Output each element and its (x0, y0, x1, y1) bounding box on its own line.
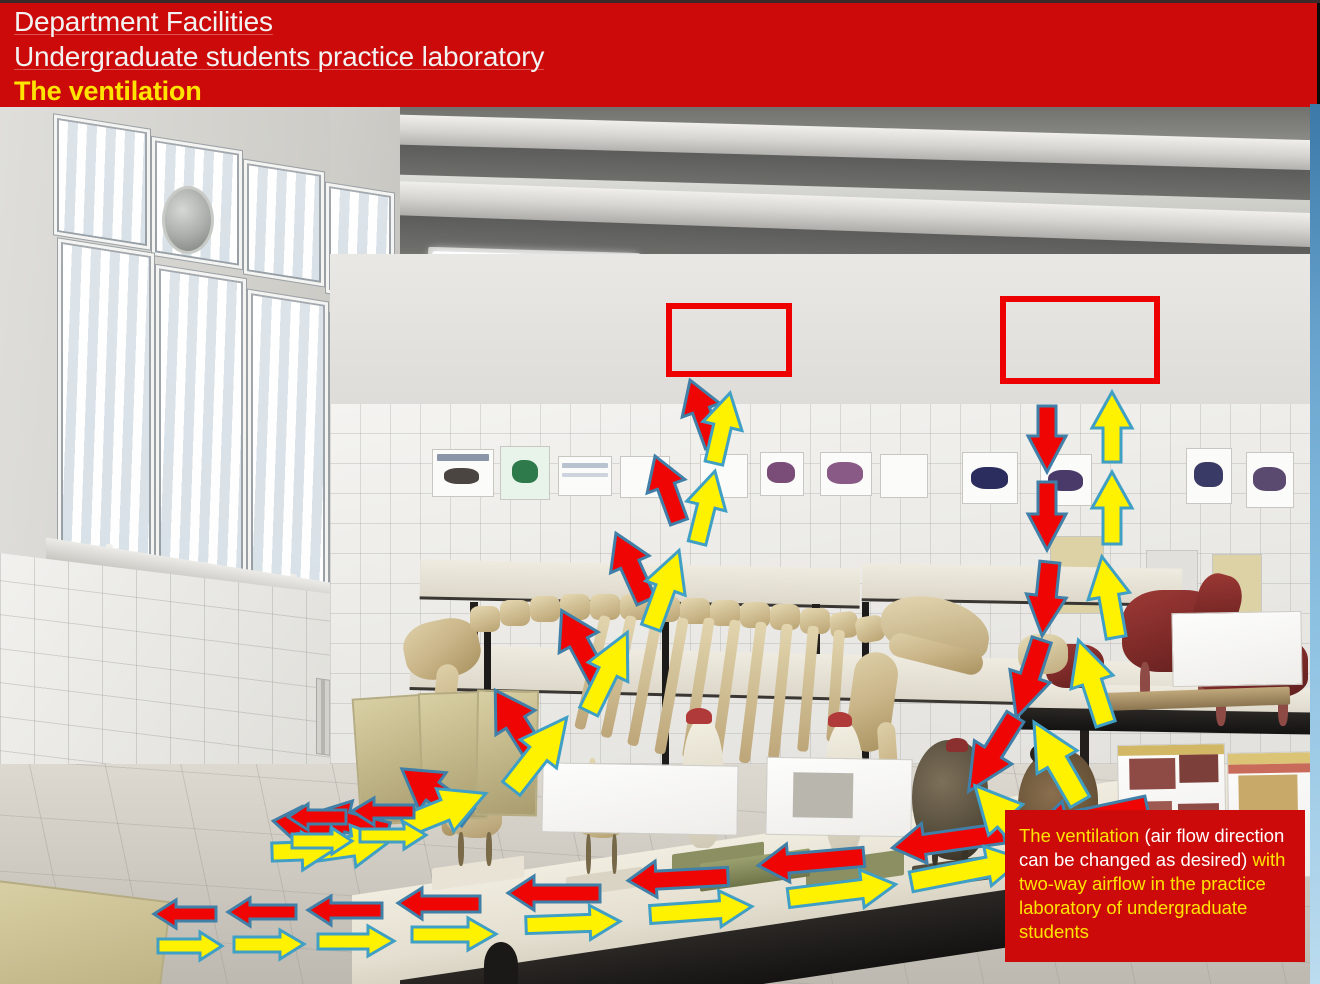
header-subtitle-lab: Undergraduate students practice laborato… (14, 43, 1317, 71)
window-main-2 (156, 265, 246, 603)
red-arrow-vert-1 (1026, 404, 1068, 474)
yellow-arrow-horiz-2 (232, 928, 306, 961)
wall-chart-10 (1246, 452, 1294, 508)
skeleton-vertebra-1 (470, 606, 500, 632)
skeleton-vertebra-2 (500, 600, 530, 626)
back-wall-upper (330, 254, 1312, 409)
poster-board-under-bench (541, 762, 738, 835)
top-edge-strip (0, 0, 1320, 3)
slide-header: Department Facilities Undergraduate stud… (0, 3, 1317, 107)
red-arrow-vert-2 (1026, 480, 1068, 552)
wall-chart-8 (880, 454, 928, 498)
red-arrow-horiz-3 (306, 894, 384, 927)
wall-chart-2 (500, 446, 550, 500)
wall-chart-7 (820, 452, 872, 496)
taxidermy-bird-white-2-comb (828, 712, 852, 727)
yellow-arrow-vert-2 (1090, 470, 1134, 546)
taxidermy-bird-white-1-comb (686, 708, 712, 724)
wall-exhaust-fan (162, 186, 214, 254)
yellow-arrow-horiz-6 (647, 886, 756, 933)
red-arrow-vert-3 (1020, 558, 1072, 640)
yellow-arrow-wall-2 (358, 820, 428, 851)
bird-skeleton-2-leg-a (586, 834, 591, 874)
right-edge-strip (1310, 104, 1320, 984)
slide-root: Department Facilities Undergraduate stud… (0, 0, 1320, 984)
window-transom-1 (54, 114, 150, 249)
window-main-3 (248, 290, 328, 619)
window-transom-3 (244, 160, 324, 287)
highlight-box-diffuser-right (1000, 296, 1160, 384)
yellow-arrow-wall-1 (290, 826, 354, 856)
red-arrow-horiz-1 (152, 898, 218, 930)
wall-chart-9 (1186, 448, 1232, 504)
wall-chart-3 (558, 456, 612, 496)
poster-board-right-bench (1171, 611, 1302, 687)
bird-skeleton-1-leg-a (458, 832, 464, 866)
header-topic-ventilation: The ventilation (14, 78, 1317, 105)
wall-chart-horse-1 (962, 452, 1018, 504)
yellow-arrow-horiz-4 (410, 916, 498, 952)
wall-chart-6 (760, 452, 804, 496)
caption-text-part1: The ventilation (1019, 825, 1144, 846)
wall-chart-1 (432, 449, 494, 497)
yellow-arrow-horiz-1 (156, 930, 224, 962)
yellow-arrow-horiz-5 (523, 902, 622, 943)
bird-skeleton-2-leg-b (612, 834, 617, 874)
yellow-arrow-vert-1 (1090, 390, 1134, 464)
yellow-arrow-horiz-3 (316, 924, 396, 958)
header-title-department: Department Facilities (14, 8, 1317, 36)
bird-skeleton-1-leg-b (486, 832, 492, 866)
red-arrow-horiz-2 (226, 896, 298, 928)
highlight-box-diffuser-left (666, 303, 792, 377)
caption-box: The ventilation (air flow direction can … (1005, 810, 1305, 962)
window-main-1 (58, 238, 154, 583)
